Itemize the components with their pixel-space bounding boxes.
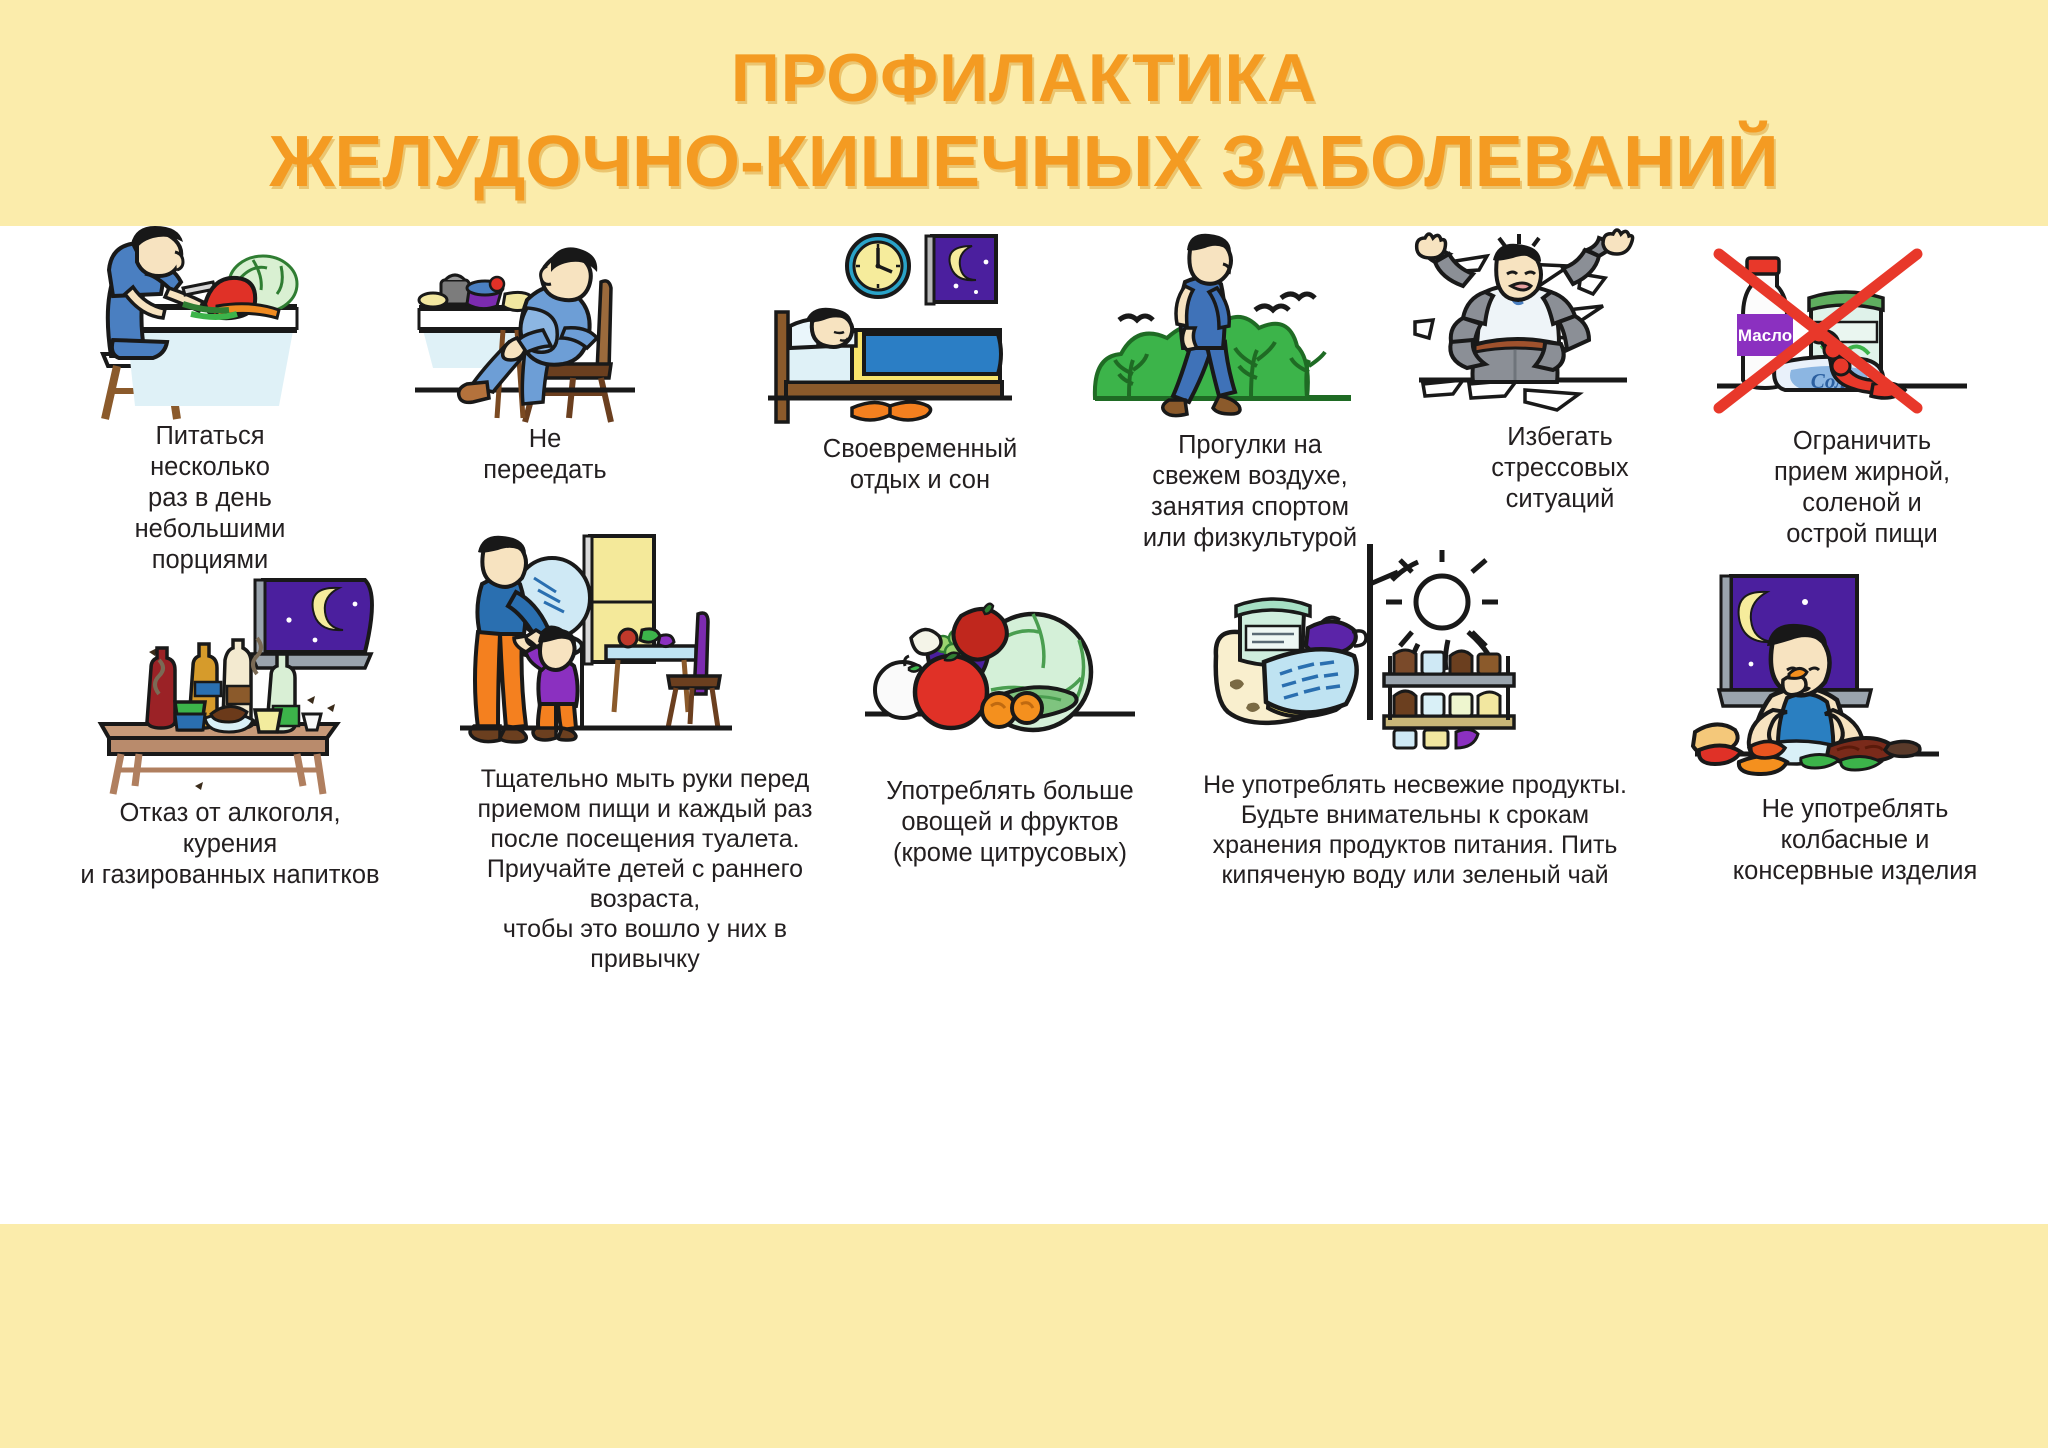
advice-caption: Не употреблять колбасные и консервные из… [1690,794,2020,887]
page-title: ПРОФИЛАКТИКА ЖЕЛУДОЧНО-КИШЕЧНЫХ ЗАБОЛЕВА… [0,36,2048,204]
advice-caption: Употреблять больше овощей и фруктов (кро… [860,776,1160,869]
advice-grid: Питаться несколько раз в день небольшими… [0,226,2048,1224]
advice-caption: Прогулки на свежем воздухе, занятия спор… [1090,430,1410,554]
poster-root: ПРОФИЛАКТИКА ЖЕЛУДОЧНО-КИШЕЧНЫХ ЗАБОЛЕВА… [0,0,2048,1448]
advice-item-more-vegetables-fruits: Употреблять больше овощей и фруктов (кро… [860,586,1160,869]
advice-item-avoid-stress: Избегать стрессовых ситуаций [1410,244,1710,515]
advice-caption: Питаться несколько раз в день небольшими… [60,421,360,576]
advice-item-limit-fatty-salty-spicy: Масло Соль Ограничить прием жирной, [1712,236,2012,550]
person-sleeping-in-bed-icon [755,226,1085,434]
man-walking-outdoors-icon [1090,234,1410,430]
advice-item-avoid-stale-products: Не употреблять несвежие продукты. Будьте… [1180,544,1650,890]
table-with-bottles-at-night-icon [60,574,400,798]
man-cutting-vegetables-icon [60,226,360,421]
man-eating-sausages-at-night-icon [1690,570,2020,794]
advice-caption: Отказ от алкоголя, курения и газированны… [60,798,400,891]
advice-item-wash-hands: Тщательно мыть руки перед приемом пищи и… [420,536,870,974]
stressed-man-with-papers-icon [1410,244,1710,422]
advice-caption: Не переедать [400,424,690,486]
advice-caption: Не употреблять несвежие продукты. Будьте… [1180,770,1650,890]
advice-item-do-not-overeat: Не переедать [400,238,690,486]
advice-item-no-alcohol-smoking-soda: Отказ от алкоголя, курения и газированны… [60,574,400,891]
advice-item-no-sausage-canned: Не употреблять колбасные и консервные из… [1690,570,2020,887]
title-line-1: ПРОФИЛАКТИКА [0,36,2048,120]
advice-item-eat-small-portions: Питаться несколько раз в день небольшими… [60,226,360,576]
man-overeating-at-table-icon [400,238,690,424]
bottom-yellow-band [0,1224,2048,1448]
oil-pickles-salt-crossed-out-icon: Масло Соль [1712,236,2012,426]
advice-item-timely-rest-and-sleep: Своевременный отдых и сон [755,226,1085,496]
advice-item-outdoor-walks-and-sport: Прогулки на свежем воздухе, занятия спор… [1090,234,1410,554]
advice-caption: Избегать стрессовых ситуаций [1410,422,1710,515]
advice-caption: Своевременный отдых и сон [755,434,1085,496]
title-line-2: ЖЕЛУДОЧНО-КИШЕЧНЫХ ЗАБОЛЕВАНИЙ [0,120,2048,204]
advice-caption: Тщательно мыть руки перед приемом пищи и… [420,764,870,974]
oil-bottle-label: Масло [1738,326,1792,345]
vegetables-and-fruits-icon [860,586,1160,776]
advice-caption: Ограничить прием жирной, соленой и остро… [1712,426,2012,550]
hand-checking-product-label-icon [1180,544,1650,770]
adult-and-child-washing-hands-icon [420,536,870,764]
